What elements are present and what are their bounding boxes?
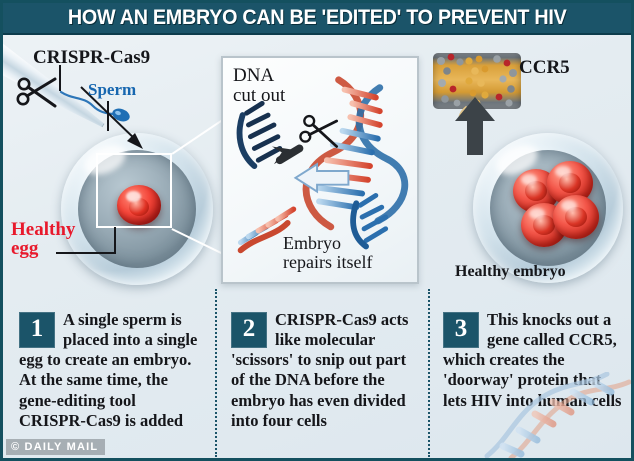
label-dna-line2: cut out bbox=[233, 86, 285, 106]
label-repair-line2: repairs itself bbox=[283, 253, 372, 272]
embryo-cell-4-core bbox=[565, 207, 587, 227]
label-healthy-egg-line1: Healthy bbox=[11, 220, 75, 239]
column-divider-1 bbox=[215, 289, 217, 457]
label-sperm: Sperm bbox=[88, 80, 136, 100]
label-repair-line1: Embryo bbox=[283, 234, 372, 253]
embryo-cell-3-core bbox=[533, 215, 555, 235]
embryo-cell-4 bbox=[553, 195, 599, 239]
step-2-badge: 2 bbox=[231, 312, 267, 348]
header-bar: HOW AN EMBRYO CAN BE 'EDITED' TO PREVENT… bbox=[3, 3, 631, 35]
steps-area: 1A single sperm is placed into a single … bbox=[3, 287, 634, 461]
column-divider-2 bbox=[428, 289, 430, 457]
label-healthy-egg: Healthy egg bbox=[11, 220, 75, 258]
step-column-1: 1A single sperm is placed into a single … bbox=[9, 287, 214, 461]
step-1-badge: 1 bbox=[19, 312, 55, 348]
dna-detail-panel: DNA cut out Embryo repairs itself bbox=[221, 56, 419, 284]
embryo-cell-2-core bbox=[559, 173, 581, 193]
label-ccr5: CCR5 bbox=[519, 57, 570, 79]
embryo-cell-1-core bbox=[525, 181, 547, 201]
label-crispr-cas9: CRISPR-Cas9 bbox=[33, 47, 150, 69]
scissors-icon bbox=[15, 73, 59, 117]
label-dna-line1: DNA bbox=[233, 66, 285, 86]
step-3-badge: 3 bbox=[443, 312, 479, 348]
daily-mail-watermark: © DAILY MAIL bbox=[6, 439, 105, 455]
page-title: HOW AN EMBRYO CAN BE 'EDITED' TO PREVENT… bbox=[68, 6, 567, 30]
zoom-crop-square bbox=[96, 153, 172, 228]
label-embryo-repairs: Embryo repairs itself bbox=[283, 234, 372, 272]
infographic-root: HOW AN EMBRYO CAN BE 'EDITED' TO PREVENT… bbox=[0, 0, 634, 461]
label-dna-cut-out: DNA cut out bbox=[233, 66, 285, 106]
label-healthy-egg-line2: egg bbox=[11, 239, 75, 258]
pointer-egg-v bbox=[114, 227, 116, 254]
healthy-embryo-illustration bbox=[473, 133, 623, 283]
step-3-paragraph: 3This knocks out a gene called CCR5, whi… bbox=[443, 310, 623, 411]
step-2-paragraph: 2CRISPR-Cas9 acts like molecular 'scisso… bbox=[231, 310, 418, 432]
label-healthy-embryo: Healthy embryo bbox=[455, 263, 566, 281]
step-1-paragraph: 1A single sperm is placed into a single … bbox=[19, 310, 204, 432]
step-column-2: 2CRISPR-Cas9 acts like molecular 'scisso… bbox=[221, 287, 428, 461]
illustration-area: CRISPR-Cas9 Sperm Healthy egg bbox=[3, 35, 634, 287]
step-column-3: 3This knocks out a gene called CCR5, whi… bbox=[433, 287, 633, 461]
